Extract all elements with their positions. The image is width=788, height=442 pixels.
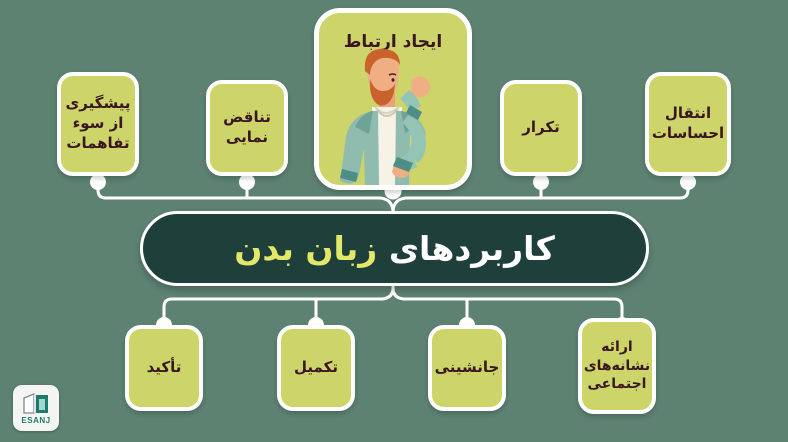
card-label: انتقال احساسات (652, 104, 724, 144)
title-word-white: کاربردهای (389, 229, 555, 268)
card-label: ارائه نشانه‌های اجتماعی (584, 338, 650, 393)
connector-dot (534, 175, 549, 190)
card-prevent-misunderstanding[interactable]: پیشگیری از سوء تفاهمات (57, 72, 139, 176)
card-social-cues[interactable]: ارائه نشانه‌های اجتماعی (578, 318, 656, 414)
infographic-canvas: پیشگیری از سوء تفاهمات تناقض نمایی ایجاد… (0, 0, 788, 442)
card-label: تکرار (522, 118, 559, 138)
title-word-accent: زبان بدن (234, 229, 377, 268)
card-establish-connection[interactable]: ایجاد ارتباط (314, 8, 472, 190)
connector-dot (91, 175, 106, 190)
main-title-banner: کاربردهای زبان بدن (140, 211, 649, 286)
person-waving-illustration (314, 45, 467, 185)
book-door-logo-icon (21, 392, 51, 416)
card-label: تأکید (147, 358, 182, 378)
card-label: تناقض نمایی (223, 108, 271, 148)
connector-dot (240, 175, 255, 190)
esanj-logo: ESANJ (13, 385, 59, 431)
card-complement[interactable]: تکمیل (277, 325, 355, 411)
card-substitution[interactable]: جانشینی (428, 325, 506, 411)
card-contradiction[interactable]: تناقض نمایی (206, 80, 288, 176)
card-emphasis[interactable]: تأکید (125, 325, 203, 411)
card-emotion-transfer[interactable]: انتقال احساسات (645, 72, 731, 176)
card-label: تکمیل (294, 358, 338, 378)
card-label: پیشگیری از سوء تفاهمات (66, 94, 131, 153)
logo-wordmark: ESANJ (21, 417, 50, 425)
card-label: جانشینی (435, 358, 500, 378)
page-title: کاربردهای زبان بدن (234, 229, 555, 268)
card-repetition[interactable]: تکرار (500, 80, 582, 176)
connector-dot (681, 175, 696, 190)
